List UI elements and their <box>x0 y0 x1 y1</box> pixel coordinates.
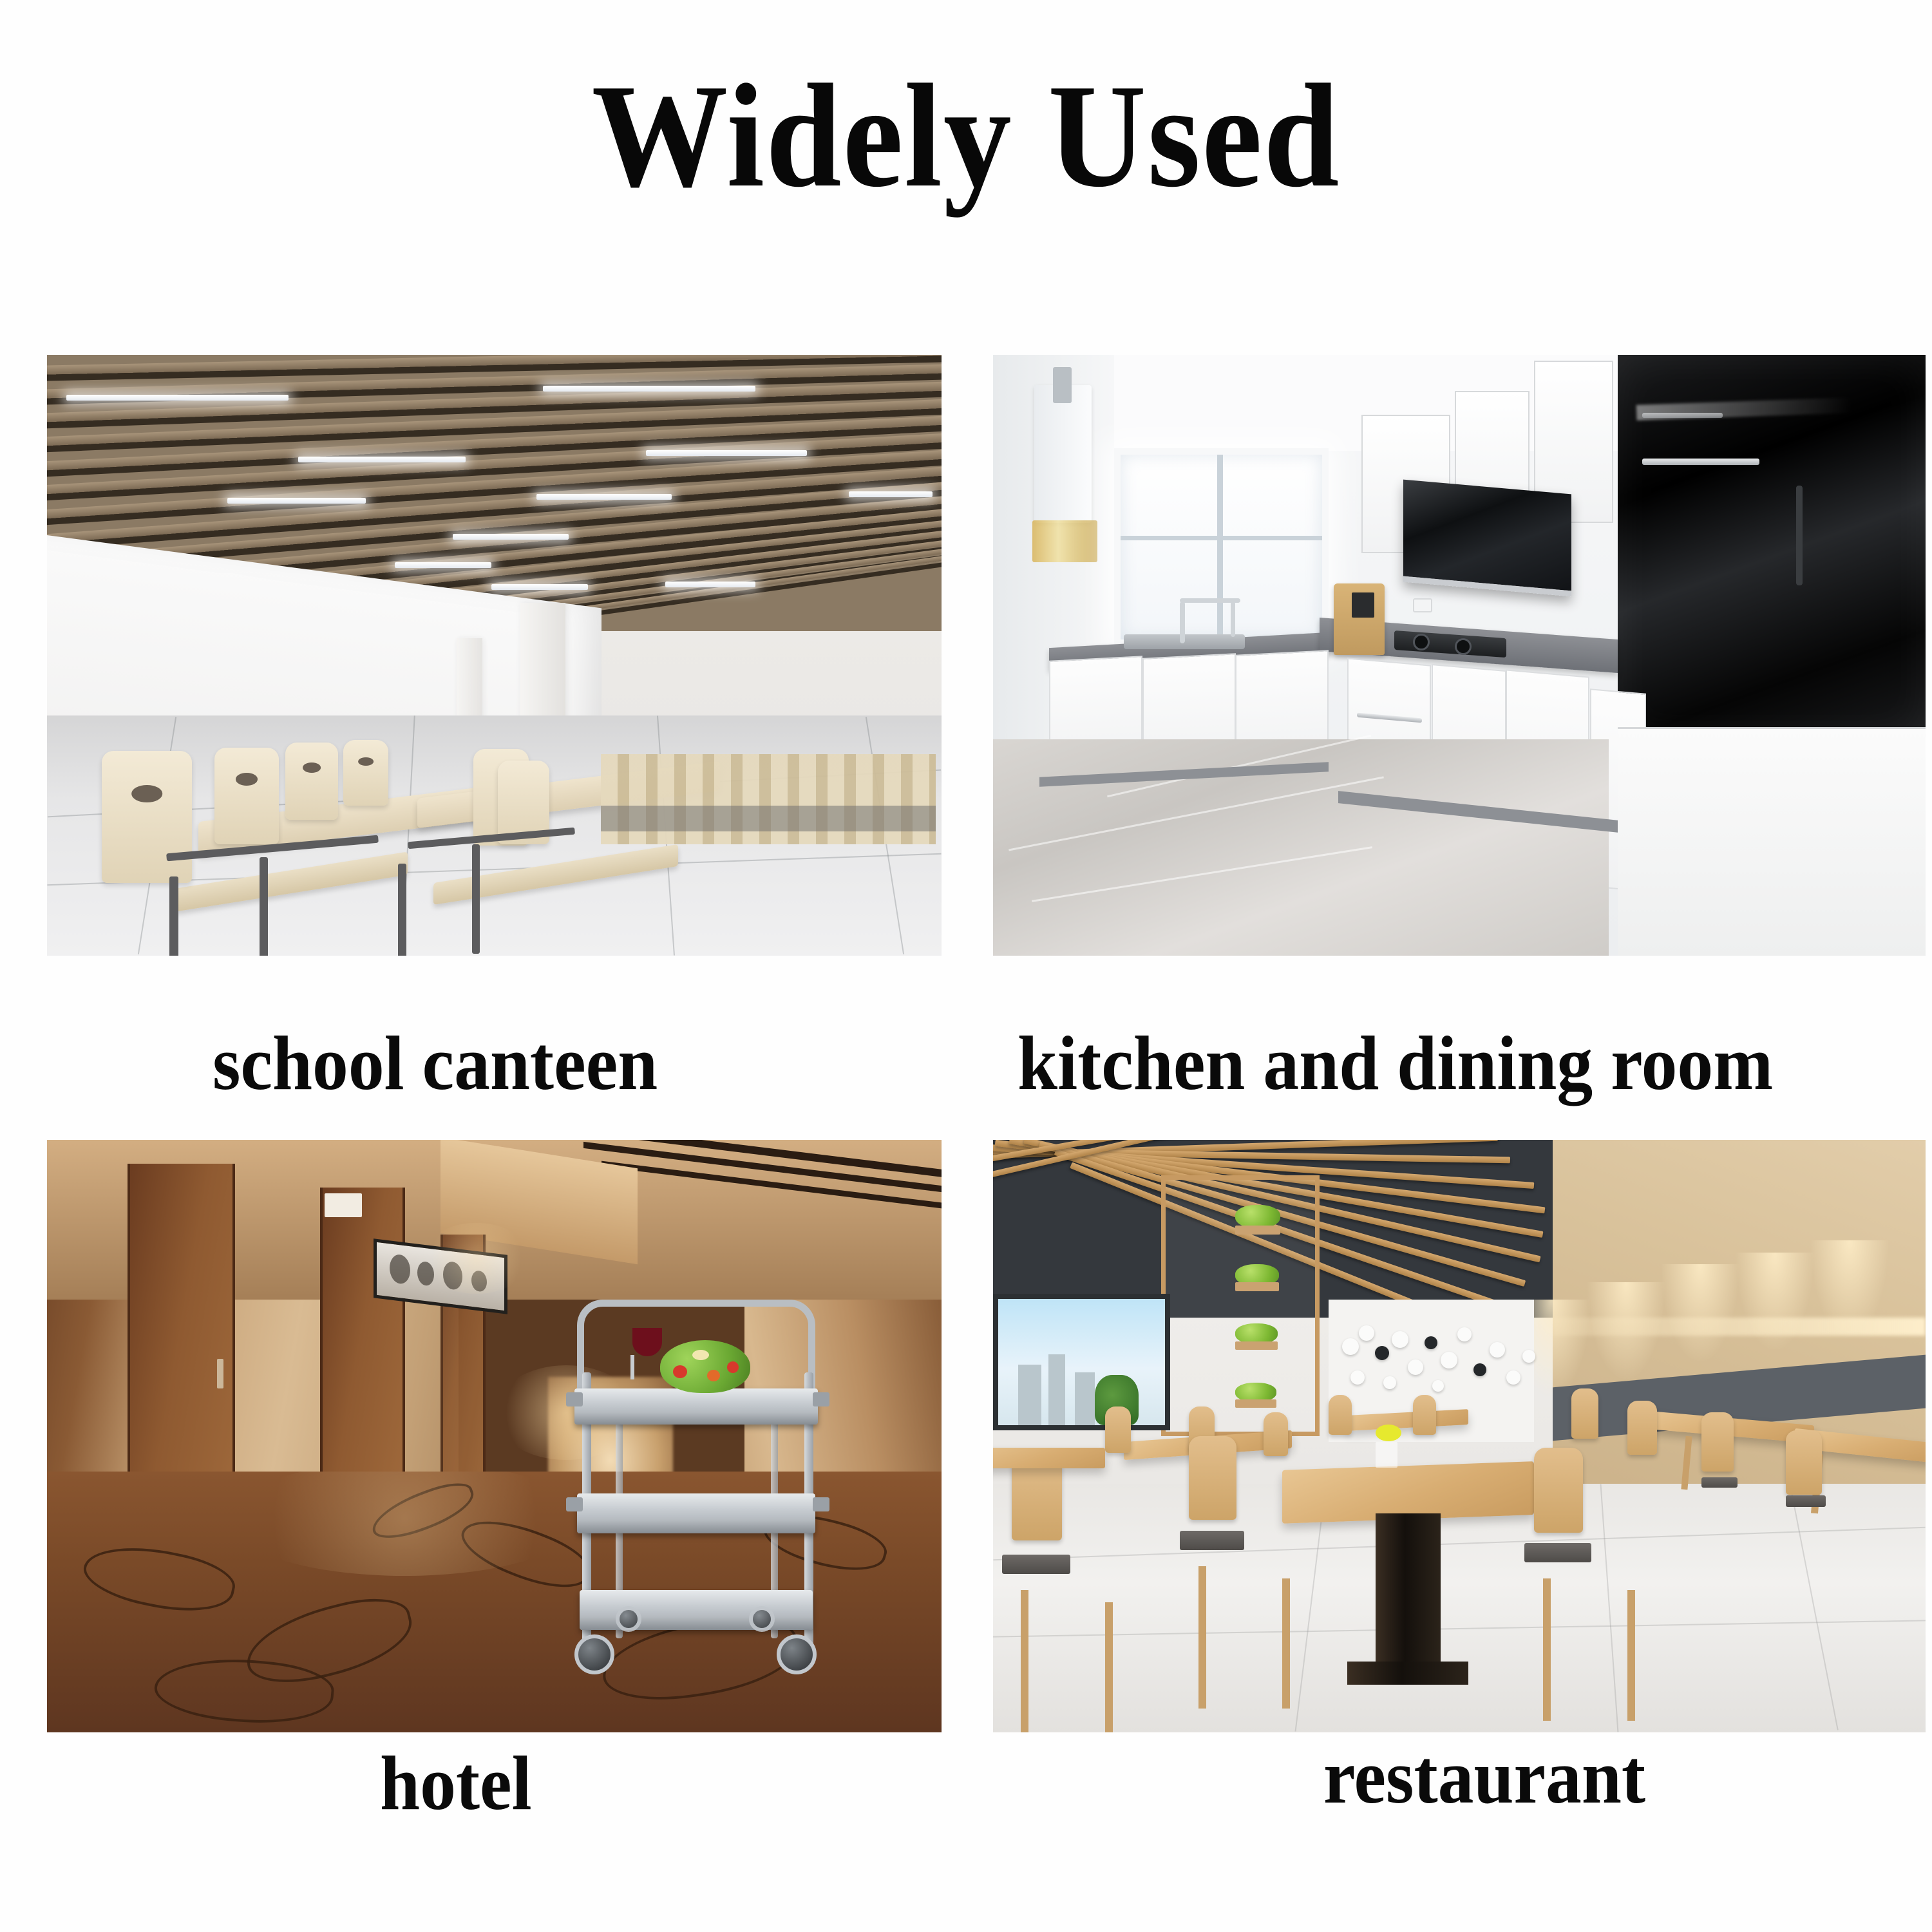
kitchen-knife-block <box>1352 592 1374 618</box>
restaurant-chair-back <box>1264 1412 1288 1456</box>
cart-caster-wheel <box>749 1606 775 1632</box>
restaurant-table-flower <box>1376 1425 1401 1441</box>
canteen-chair-back <box>214 748 279 844</box>
restaurant-chair-back <box>1329 1395 1352 1435</box>
canteen-chair-back <box>343 740 388 806</box>
restaurant-window <box>993 1294 1170 1430</box>
restaurant-table <box>993 1448 1105 1468</box>
scenario-card-hotel[interactable] <box>47 1140 942 1732</box>
cart-top-shelf <box>574 1388 819 1425</box>
kitchen-water-heater <box>1034 385 1092 524</box>
canteen-chair-back <box>102 751 192 883</box>
restaurant-chair-back <box>1413 1395 1436 1435</box>
cart-caster-wheel <box>574 1634 614 1674</box>
restaurant-chair-back <box>1701 1412 1734 1472</box>
scenario-card-school-canteen[interactable] <box>47 355 942 956</box>
restaurant-chair-back <box>1786 1430 1822 1495</box>
kitchen-power-outlet <box>1413 598 1432 612</box>
caption-school-canteen: school canteen <box>213 1019 658 1108</box>
infographic-page: Widely Used <box>0 0 1932 1932</box>
restaurant-floor <box>993 1484 1926 1732</box>
caption-kitchen-and-dining-room: kitchen and dining room <box>1018 1019 1773 1108</box>
restaurant-planter <box>1235 1205 1280 1228</box>
photo-restaurant <box>993 1140 1926 1732</box>
photo-hotel <box>47 1140 942 1732</box>
cart-bottom-shelf <box>580 1590 813 1631</box>
photo-school-canteen <box>47 355 942 956</box>
caption-restaurant: restaurant <box>1323 1732 1645 1821</box>
cart-caster-wheel <box>616 1606 641 1632</box>
kitchen-gas-pipes <box>1032 520 1097 562</box>
kitchen-faucet <box>1180 601 1185 643</box>
cart-caster-wheel <box>777 1634 817 1674</box>
restaurant-table-vase <box>1376 1442 1397 1468</box>
restaurant-chair-back <box>1189 1436 1236 1520</box>
scenario-card-restaurant[interactable] <box>993 1140 1926 1732</box>
canteen-chair-back <box>285 743 338 820</box>
restaurant-table-base <box>1376 1513 1441 1673</box>
cart-salad-plate <box>660 1340 750 1393</box>
kitchen-range-hood <box>1403 480 1571 596</box>
hotel-room-number-plate <box>325 1193 362 1217</box>
restaurant-chair-back <box>1105 1406 1131 1453</box>
photo-kitchen-and-dining-room <box>993 355 1926 956</box>
kitchen-faucet <box>1231 601 1235 638</box>
canteen-dining-set <box>47 355 942 956</box>
hotel-service-cart <box>566 1300 844 1703</box>
kitchen-flue-pipe <box>1053 367 1072 403</box>
usage-scenario-grid: school canteen <box>0 0 1932 1932</box>
restaurant-chair-back <box>1534 1448 1583 1533</box>
restaurant-disc-decoration <box>1338 1318 1544 1412</box>
kitchen-black-tall-cabinet <box>1618 355 1926 739</box>
cart-middle-shelf <box>577 1493 815 1534</box>
scenario-card-kitchen[interactable] <box>993 355 1926 956</box>
caption-hotel: hotel <box>380 1739 532 1828</box>
restaurant-chair-back <box>1627 1401 1657 1455</box>
restaurant-chair-back <box>1571 1388 1598 1439</box>
kitchen-window <box>1114 448 1329 647</box>
